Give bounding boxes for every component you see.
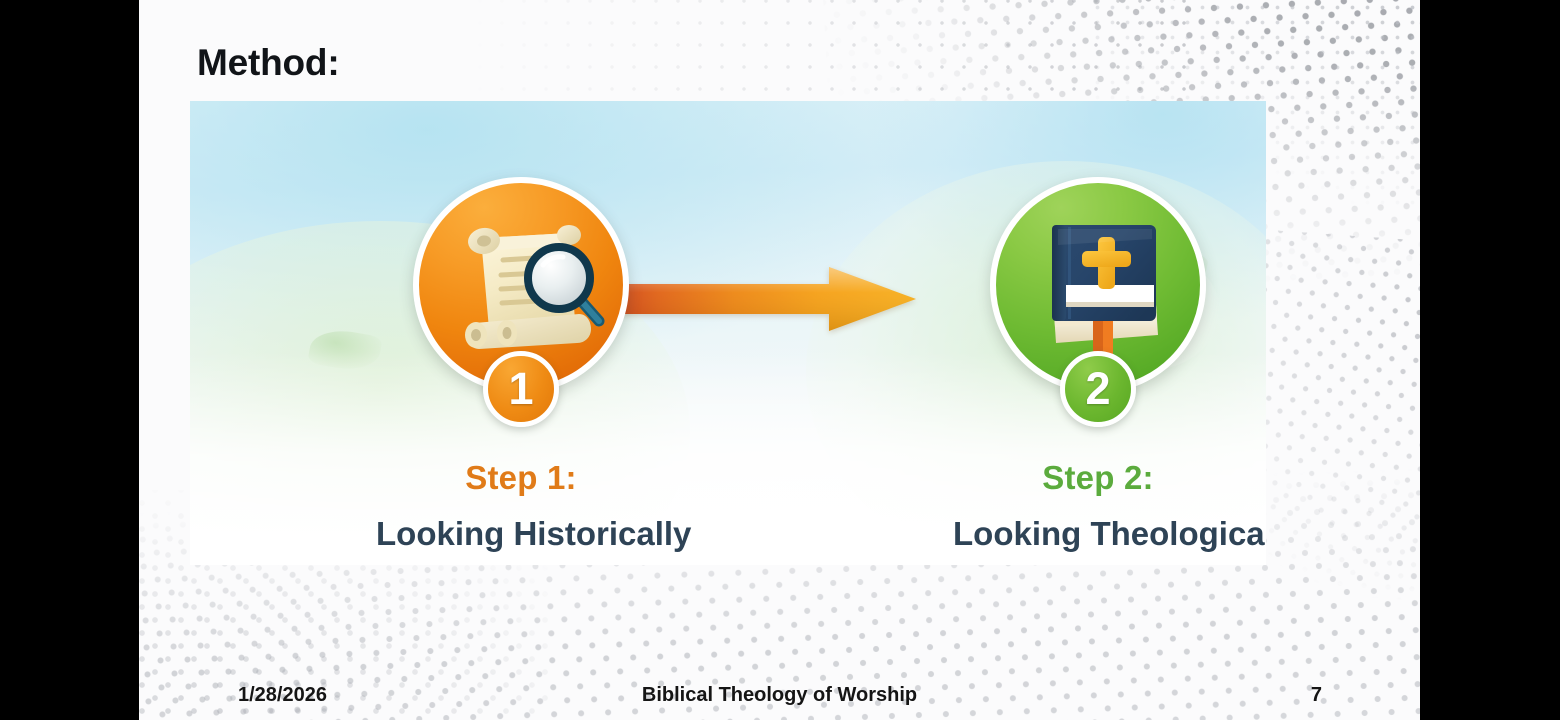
presentation-viewport: Method:: [0, 0, 1560, 720]
step-1-node[interactable]: 1 Step 1: Looking Historically: [376, 177, 666, 553]
diagram-image: 1 Step 1: Looking Historically: [190, 101, 1266, 565]
slide-canvas: Method:: [139, 0, 1420, 720]
letterbox-right: [1420, 0, 1560, 720]
step-2-title: Step 2:: [953, 459, 1243, 497]
page-title: Method:: [197, 42, 339, 84]
step-2-circle-wrap: 2: [990, 177, 1206, 393]
footer-page-number: 7: [1311, 684, 1322, 707]
step-1-title: Step 1:: [376, 459, 666, 497]
step-1-badge: 1: [483, 351, 559, 427]
step-1-circle-wrap: 1: [413, 177, 629, 393]
letterbox-left: [0, 0, 139, 720]
footer-title: Biblical Theology of Worship: [139, 684, 1420, 707]
step-1-caption: Looking Historically: [376, 515, 666, 553]
step-2-node[interactable]: 2 Step 2: Looking Theologically: [953, 177, 1243, 553]
step-2-caption: Looking Theologically: [953, 515, 1243, 553]
step-2-badge: 2: [1060, 351, 1136, 427]
